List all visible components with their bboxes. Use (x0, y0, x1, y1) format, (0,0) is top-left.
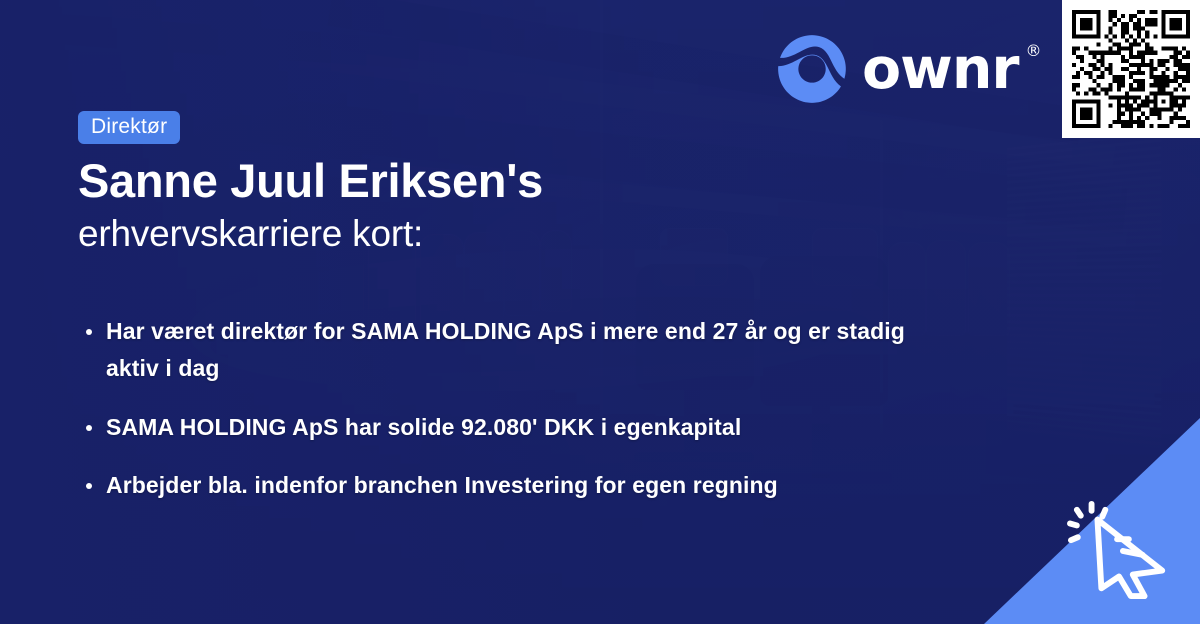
list-item: Har været direktør for SAMA HOLDING ApS … (80, 313, 910, 388)
role-badge: Direktør (78, 111, 180, 144)
click-cursor-icon (1062, 498, 1180, 602)
qr-code[interactable] (1062, 0, 1200, 138)
list-item: Arbejder bla. indenfor branchen Invester… (80, 467, 910, 504)
person-name: Sanne Juul Eriksen's (78, 155, 838, 208)
list-item: SAMA HOLDING ApS har solide 92.080' DKK … (80, 409, 910, 446)
ownr-logo[interactable]: ownr® (776, 33, 1019, 105)
career-facts-list: Har været direktør for SAMA HOLDING ApS … (80, 313, 910, 504)
ownr-wordmark: ownr® (862, 41, 1019, 98)
qr-code-icon (1072, 10, 1190, 128)
vignette-overlay (0, 0, 1200, 624)
page-subtitle: erhvervskarriere kort: (78, 212, 838, 256)
ownr-wordmark-text: ownr (862, 36, 1019, 102)
registered-trademark-icon: ® (1026, 43, 1041, 59)
ownr-circle-logo-icon (776, 33, 848, 105)
business-card-banner: ownr® Direktør Sanne Juul Eriksen's erhv… (0, 0, 1200, 624)
page-title: Sanne Juul Eriksen's erhvervskarriere ko… (78, 155, 838, 256)
